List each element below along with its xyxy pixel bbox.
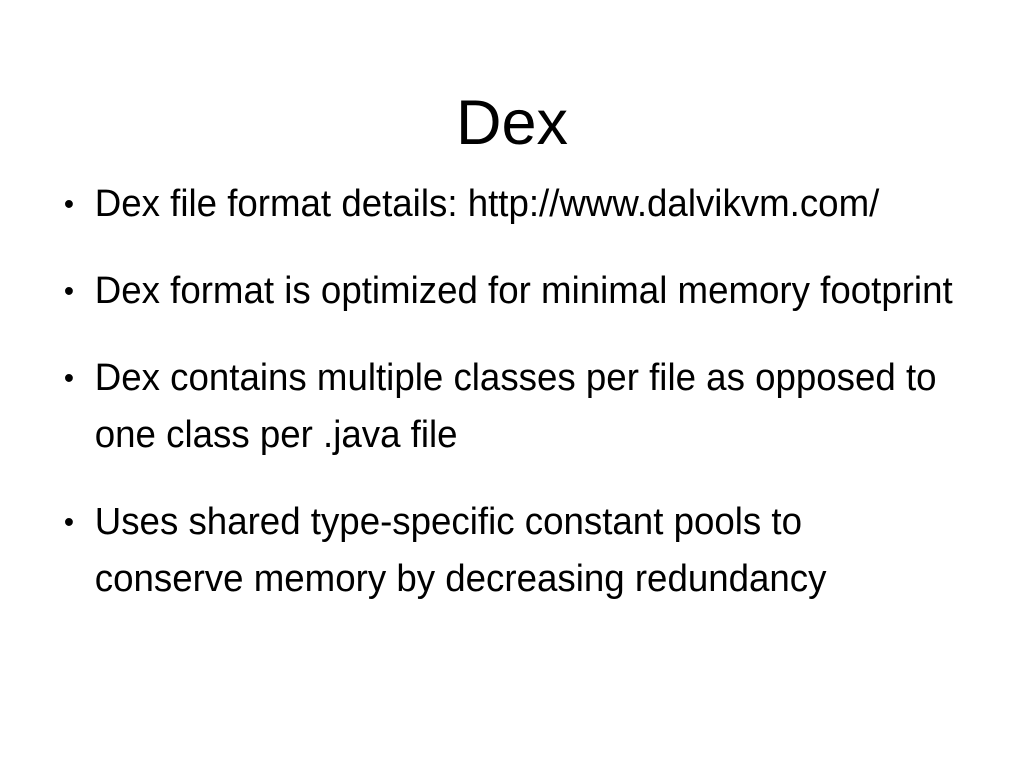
list-item: • Uses shared type-specific constant poo…	[60, 494, 957, 608]
bullet-point-icon: •	[64, 494, 85, 551]
list-item: • Dex contains multiple classes per file…	[60, 350, 957, 464]
bullet-point-icon: •	[64, 176, 85, 233]
list-item-text: Dex file format details: http://www.dalv…	[95, 176, 958, 233]
list-item-text: Dex contains multiple classes per file a…	[95, 350, 958, 464]
bullet-point-icon: •	[64, 350, 85, 407]
page-title: Dex	[0, 90, 1024, 156]
bullet-point-icon: •	[64, 263, 85, 320]
list-item: • Dex format is optimized for minimal me…	[60, 263, 957, 320]
list-item-text: Dex format is optimized for minimal memo…	[95, 263, 958, 320]
list-item: • Dex file format details: http://www.da…	[60, 176, 957, 233]
slide: Dex • Dex file format details: http://ww…	[0, 0, 1024, 768]
bullet-list: • Dex file format details: http://www.da…	[60, 176, 990, 608]
list-item-text: Uses shared type-specific constant pools…	[95, 494, 958, 608]
